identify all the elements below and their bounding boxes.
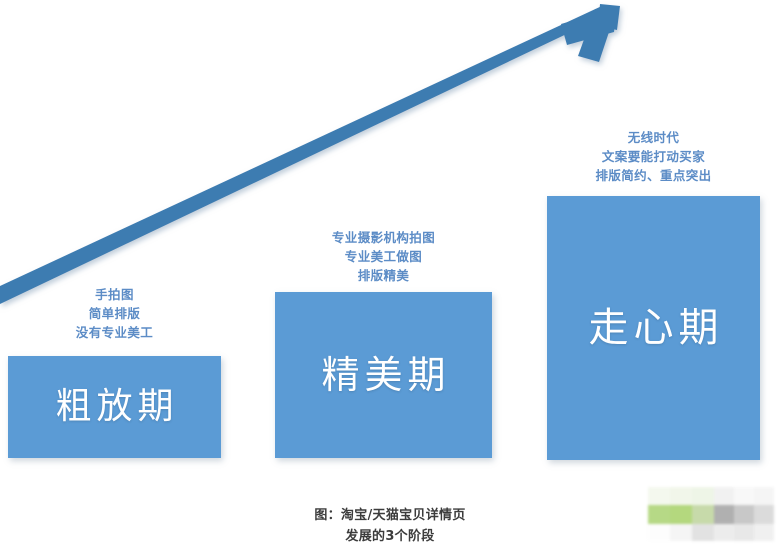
figure-canvas: 手拍图 简单排版 没有专业美工 粗放期 专业摄影机构拍图 专业美工做图 排版精美… bbox=[0, 0, 778, 560]
stage-2-box: 精美期 bbox=[275, 292, 492, 458]
figure-caption-line-2: 发展的3个阶段 bbox=[248, 526, 532, 547]
stage-3-label: 走心期 bbox=[584, 308, 724, 348]
stage-2-desc-line-1: 专业摄影机构拍图 bbox=[275, 228, 492, 247]
stage-1-description: 手拍图 简单排版 没有专业美工 bbox=[8, 285, 221, 342]
stage-3-desc-line-3: 排版简约、重点突出 bbox=[547, 166, 760, 185]
stage-1-label: 粗放期 bbox=[50, 389, 178, 425]
stage-1-desc-line-2: 简单排版 bbox=[8, 304, 221, 323]
stage-3-box: 走心期 bbox=[547, 196, 760, 460]
stage-3-description: 无线时代 文案要能打动买家 排版简约、重点突出 bbox=[547, 128, 760, 185]
stage-3-desc-line-1: 无线时代 bbox=[547, 128, 760, 147]
stage-3-desc-line-2: 文案要能打动买家 bbox=[547, 147, 760, 166]
stage-2-description: 专业摄影机构拍图 专业美工做图 排版精美 bbox=[275, 228, 492, 285]
stage-2-desc-line-2: 专业美工做图 bbox=[275, 247, 492, 266]
stage-1-desc-line-1: 手拍图 bbox=[8, 285, 221, 304]
stage-1-desc-line-3: 没有专业美工 bbox=[8, 323, 221, 342]
blurred-watermark bbox=[648, 487, 774, 541]
stage-2-desc-line-3: 排版精美 bbox=[275, 266, 492, 285]
stage-2-label: 精美期 bbox=[316, 356, 450, 394]
figure-caption-line-1: 图：淘宝/天猫宝贝详情页 bbox=[248, 505, 532, 526]
stage-1-box: 粗放期 bbox=[8, 356, 221, 458]
figure-caption: 图：淘宝/天猫宝贝详情页 发展的3个阶段 bbox=[248, 505, 532, 547]
